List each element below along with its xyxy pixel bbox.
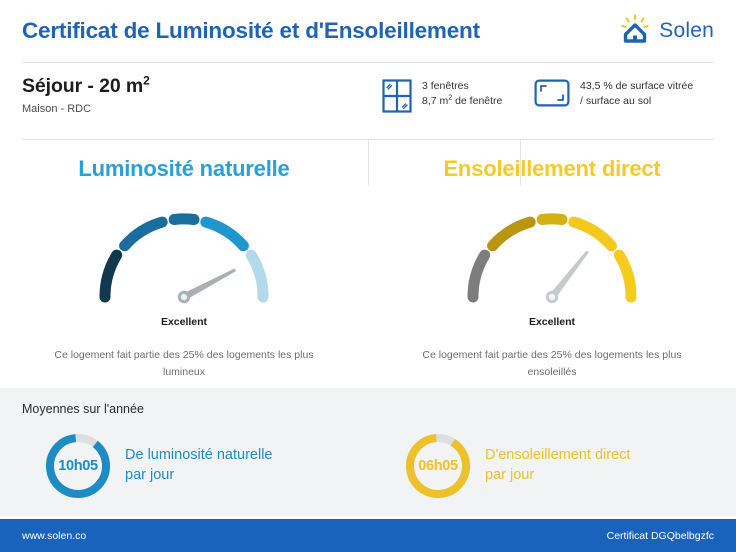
stat-glazing-ratio-label: / surface au sol [580,94,693,109]
floor-area-icon [534,79,570,112]
donut-direct-sunlight: 06h05 [404,432,472,500]
gauge-direct-sunlight: Ensoleillement direct Excellent Ce lo [368,142,736,381]
donut-direct-sunlight-value: 06h05 [404,432,472,500]
page-header: Certificat de Luminosité et d'Ensoleille… [0,0,736,62]
gauge-needle [176,264,239,305]
average-label-line2: par jour [485,466,630,486]
gauge-natural-light-heading: Luminosité naturelle [0,156,368,182]
average-label-line1: De luminosité naturelle [125,446,273,466]
stat-windows-area: 8,7 m2 de fenêtre [422,94,502,109]
average-natural-light-label: De luminosité naturelle par jour [125,446,273,485]
gauge-natural-light-dial [84,196,284,308]
average-label-line1: D'ensoleillement direct [485,446,630,466]
donut-natural-light-value: 10h05 [44,432,112,500]
room-title: Séjour - 20 m2 [22,75,150,98]
donut-natural-light: 10h05 [44,432,112,500]
gauge-natural-light-description: Ce logement fait partie des 25% des loge… [34,347,334,381]
gauge-natural-light-rating: Excellent [0,316,368,328]
gauge-direct-sunlight-heading: Ensoleillement direct [368,156,736,182]
yearly-averages-panel: Moyennes sur l'année 10h05 De luminosité… [0,388,736,516]
gauge-direct-sunlight-rating: Excellent [368,316,736,328]
room-identity: Séjour - 20 m2 Maison - RDC [22,75,150,115]
gauges-section: Luminosité naturelle Excellent Ce log [0,142,736,384]
page-title: Certificat de Luminosité et d'Ensoleille… [22,18,480,44]
stat-windows-text: 3 fenêtres 8,7 m2 de fenêtre [422,79,502,109]
gauge-desc-line1: Ce logement fait partie des 25% des loge… [54,349,313,361]
gauge-direct-sunlight-dial [452,196,652,308]
room-title-superscript: 2 [143,74,150,88]
footer-website[interactable]: www.solen.co [22,530,86,542]
gauge-natural-light: Luminosité naturelle Excellent Ce log [0,142,368,381]
average-natural-light: 10h05 De luminosité naturelle par jour [44,432,273,500]
gauge-direct-sunlight-description: Ce logement fait partie des 25% des loge… [402,347,702,381]
sun-house-icon [620,14,650,49]
stat-windows-count: 3 fenêtres [422,79,502,94]
average-direct-sunlight-label: D'ensoleillement direct par jour [485,446,630,485]
room-subtitle: Maison - RDC [22,103,150,115]
page-footer: www.solen.co Certificat DGQbelbgzfc [0,519,736,552]
stat-windows-area-value: 8,7 m [422,95,448,107]
gauge-needle [543,247,592,305]
stat-windows-area-unit: de fenêtre [452,95,502,107]
window-panes-icon [382,79,412,118]
gauge-desc-line1: Ce logement fait partie des 25% des loge… [422,349,681,361]
gauge-desc-line2: ensoleillés [527,366,576,378]
average-direct-sunlight: 06h05 D'ensoleillement direct par jour [404,432,630,500]
brand-name: Solen [659,19,714,43]
room-title-text: Séjour - 20 m [22,75,143,97]
stat-glazing-percent: 43,5 % de surface vitrée [580,79,693,94]
info-band-bottom-divider [22,139,714,140]
stat-windows: 3 fenêtres 8,7 m2 de fenêtre [382,79,502,118]
stat-glazing-text: 43,5 % de surface vitrée / surface au so… [580,79,693,109]
room-info-band: Séjour - 20 m2 Maison - RDC 3 fenêtres 8… [0,63,736,139]
average-label-line2: par jour [125,466,273,486]
footer-certificate-id: Certificat DGQbelbgzfc [607,530,714,542]
yearly-averages-title: Moyennes sur l'année [22,402,144,416]
brand-logo: Solen [620,14,714,49]
gauge-desc-line2: lumineux [163,366,205,378]
stat-glazing-ratio: 43,5 % de surface vitrée / surface au so… [534,79,693,112]
